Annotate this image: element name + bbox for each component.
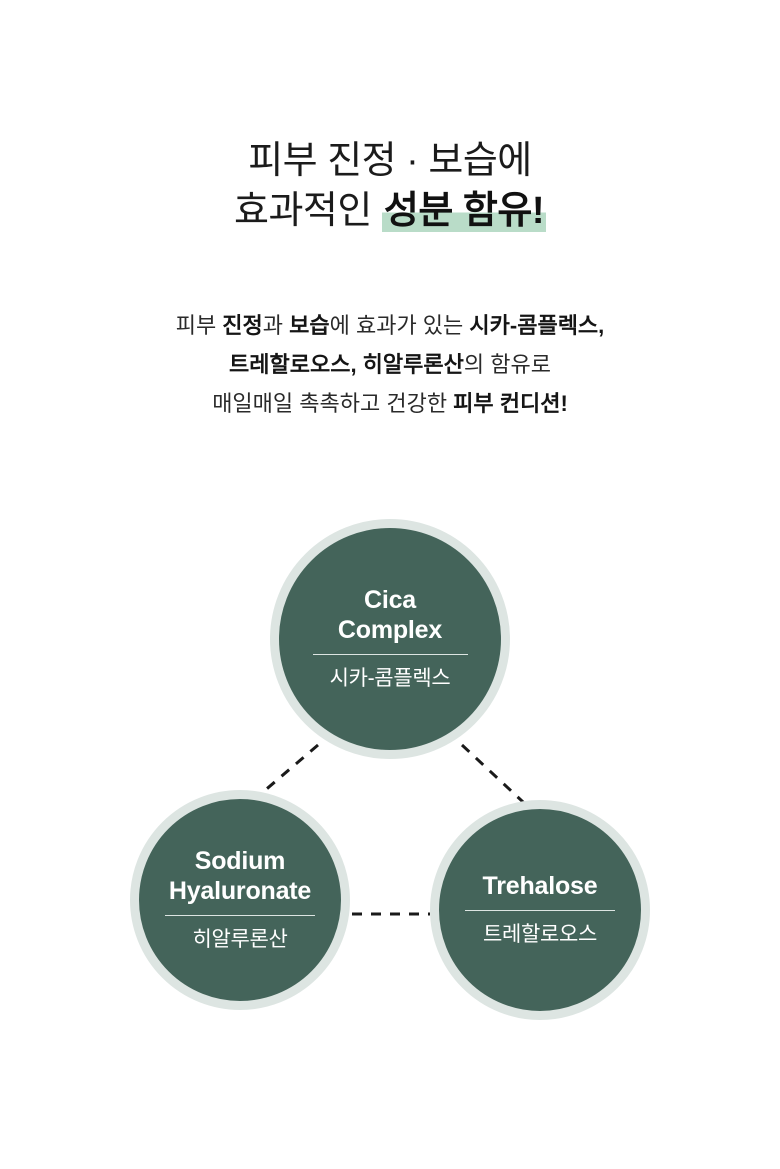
subcopy-seg: 에 효과가 있는 — [330, 313, 470, 338]
node-en-line-1: Trehalose — [483, 872, 598, 900]
node-en-line-2: Complex — [338, 616, 442, 644]
ingredient-node-trehalose[interactable]: Trehalose 트레할로오스 — [430, 800, 650, 1020]
ingredient-node-sodium-hyaluronate[interactable]: Sodium Hyaluronate 히알루론산 — [130, 790, 350, 1010]
ingredient-diagram: Cica Complex 시카-콤플렉스 Sodium Hyaluronate … — [0, 510, 780, 1040]
node-en-name: Sodium Hyaluronate — [159, 847, 321, 906]
subcopy-block: 피부 진정과 보습에 효과가 있는 시카-콤플렉스, 트레할로오스, 히알루론산… — [0, 306, 780, 423]
subcopy-line-3: 매일매일 촉촉하고 건강한 피부 컨디션! — [0, 384, 780, 423]
headline-highlight: 성분 함유! — [382, 190, 546, 232]
node-kr-name: 트레할로오스 — [483, 918, 597, 948]
page-headline: 피부 진정 · 보습에 효과적인 성분 함유! — [0, 136, 780, 236]
headline-line-1: 피부 진정 · 보습에 — [0, 136, 780, 186]
subcopy-seg: 과 — [263, 313, 289, 338]
node-en-line-2: Hyaluronate — [169, 877, 311, 905]
headline-line-2: 효과적인 성분 함유! — [0, 186, 780, 236]
node-en-name: Trehalose — [473, 872, 608, 902]
subcopy-seg-bold: 피부 컨디션! — [453, 391, 568, 416]
subcopy-line-2: 트레할로오스, 히알루론산의 함유로 — [0, 345, 780, 384]
subcopy-seg-bold: 진정 — [222, 313, 262, 338]
ingredient-node-cica-complex[interactable]: Cica Complex 시카-콤플렉스 — [270, 519, 510, 759]
node-en-line-1: Sodium — [195, 847, 285, 875]
node-en-name: Cica Complex — [328, 586, 452, 645]
subcopy-seg: 피부 — [176, 313, 223, 338]
subcopy-line-1: 피부 진정과 보습에 효과가 있는 시카-콤플렉스, — [0, 306, 780, 345]
subcopy-seg-bold: 트레할로오스, 히알루론산 — [229, 352, 464, 377]
node-divider — [313, 654, 468, 655]
subcopy-seg: 매일매일 촉촉하고 건강한 — [212, 391, 453, 416]
headline-line-1-text: 피부 진정 · 보습에 — [248, 140, 532, 182]
node-divider — [465, 910, 615, 911]
node-divider — [165, 915, 315, 916]
subcopy-seg-bold: 시카-콤플렉스, — [469, 313, 604, 338]
subcopy-seg-bold: 보습 — [289, 313, 329, 338]
node-kr-name: 히알루론산 — [192, 923, 287, 953]
headline-line-2-prefix: 효과적인 — [234, 190, 382, 232]
node-en-line-1: Cica — [364, 586, 416, 614]
subcopy-seg: 의 함유로 — [464, 352, 551, 377]
node-kr-name: 시카-콤플렉스 — [330, 662, 451, 692]
